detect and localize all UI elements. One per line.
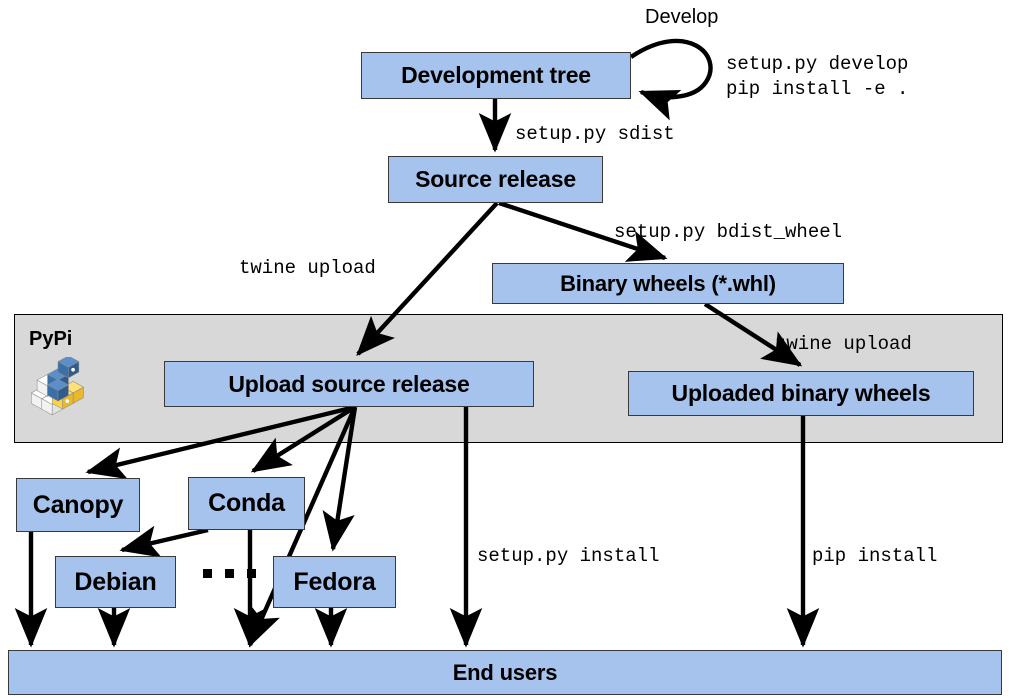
node-uploaded-binary-wheels-label: Uploaded binary wheels [672, 380, 931, 407]
diagram-canvas: PyPi [0, 0, 1009, 698]
edge-source-to-upload-source [358, 203, 497, 354]
label-develop: Develop [645, 4, 718, 30]
node-canopy[interactable]: Canopy [16, 478, 140, 532]
edge-dev-self-loop [631, 41, 711, 97]
label-setup-sdist: setup.py sdist [515, 122, 675, 147]
node-upload-source-release[interactable]: Upload source release [164, 361, 534, 407]
node-debian[interactable]: Debian [55, 556, 176, 608]
node-fedora[interactable]: Fedora [273, 556, 396, 608]
node-binary-wheels-label: Binary wheels (*.whl) [560, 271, 776, 297]
node-fedora-label: Fedora [293, 568, 375, 597]
label-twine-upload-wheels: twine upload [775, 332, 912, 357]
edge-conda-to-debian [122, 530, 208, 550]
node-end-users-label: End users [453, 660, 558, 686]
node-upload-source-release-label: Upload source release [228, 371, 469, 398]
node-development-tree-label: Development tree [401, 62, 591, 89]
node-binary-wheels[interactable]: Binary wheels (*.whl) [492, 263, 844, 304]
label-setup-install: setup.py install [477, 544, 659, 569]
node-source-release-label: Source release [415, 166, 576, 193]
ellipsis-dot [203, 569, 212, 578]
edge-upload-to-canopy [88, 407, 355, 472]
node-debian-label: Debian [74, 568, 156, 597]
node-conda-label: Conda [208, 489, 285, 518]
node-end-users[interactable]: End users [8, 650, 1002, 695]
node-uploaded-binary-wheels[interactable]: Uploaded binary wheels [628, 371, 974, 416]
ellipsis-dot [247, 569, 256, 578]
label-pip-install: pip install [812, 544, 937, 569]
label-twine-upload-source: twine upload [239, 256, 376, 281]
ellipsis-dots-icon [203, 569, 256, 578]
node-conda[interactable]: Conda [188, 477, 305, 530]
label-setup-bdist-wheel: setup.py bdist_wheel [614, 220, 842, 245]
label-setup-develop: setup.py develop pip install -e . [726, 52, 908, 102]
ellipsis-dot [225, 569, 234, 578]
node-canopy-label: Canopy [33, 491, 123, 520]
node-source-release[interactable]: Source release [388, 156, 603, 203]
node-development-tree[interactable]: Development tree [361, 52, 631, 99]
